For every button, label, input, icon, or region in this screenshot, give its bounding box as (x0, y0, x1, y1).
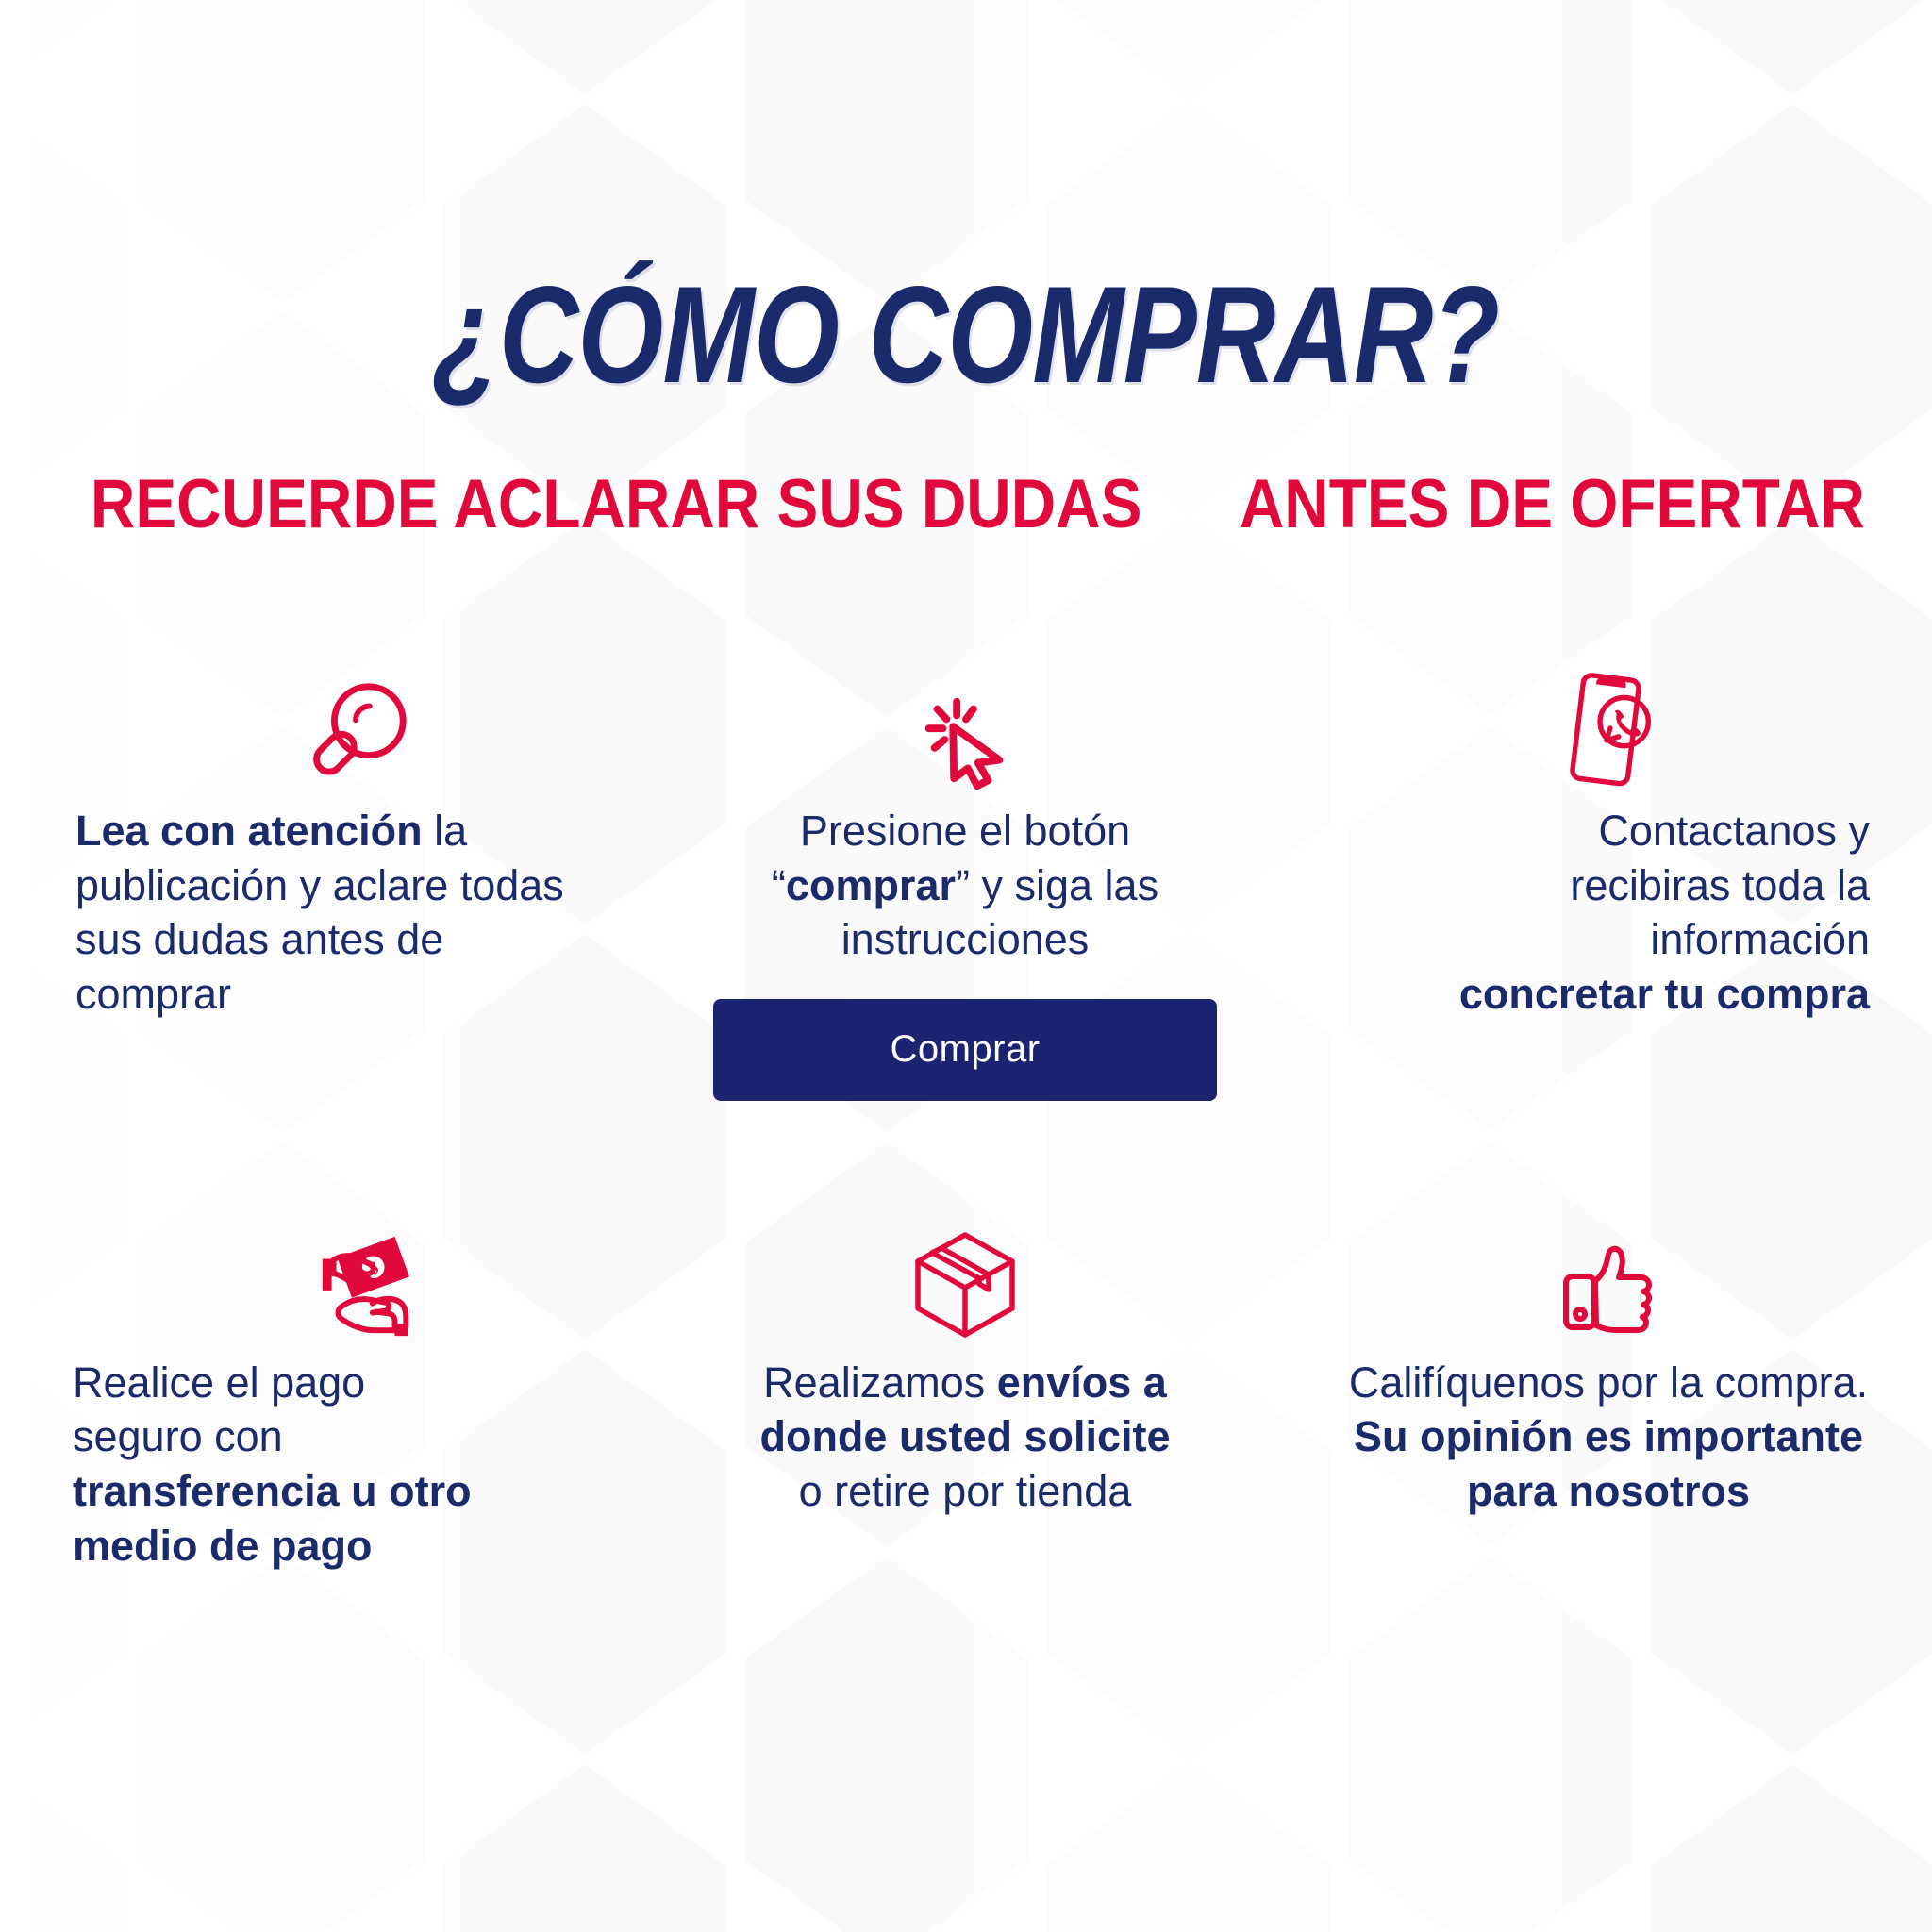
steps-row-bottom: $ (0, 1203, 1932, 1573)
step-text-contact-us: Contactanos yrecibiras toda lainformació… (1341, 804, 1870, 1021)
subtitle-line-2: ANTES DE OFERTAR (1240, 467, 1865, 542)
page-title: ¿CÓMO COMPRAR? (0, 266, 1932, 404)
package-box-icon (906, 1224, 1024, 1342)
step-text-make-payment: Realice el pagoseguro contransferencia u… (73, 1356, 601, 1573)
subtitle: RECUERDE ACLARAR SUS DUDAS ANTES DE OFER… (0, 467, 1932, 542)
thumbs-up-icon (1553, 1231, 1664, 1342)
step-contact-us: Contactanos yrecibiras toda lainformació… (1287, 651, 1930, 1101)
step-rate-us: Califíquenos por la compra. Su opinión e… (1287, 1203, 1930, 1573)
money-hands-icon: $ (304, 1231, 426, 1342)
step-text-shipping: Realizamos envíos adonde usted soliciteo… (759, 1356, 1170, 1519)
subtitle-line-1: RECUERDE ACLARAR SUS DUDAS (91, 467, 1142, 542)
step-read-publication: Lea con atención la publicación y aclare… (0, 651, 643, 1101)
main-title-text: ¿CÓMO COMPRAR? (433, 266, 1500, 404)
steps-grid: Lea con atención la publicación y aclare… (0, 651, 1932, 1573)
click-cursor-icon (914, 689, 1016, 791)
step-make-payment: $ (0, 1203, 643, 1573)
step-press-buy-button: Presione el botón“comprar” y siga lasins… (643, 651, 1287, 1101)
step-text-read-publication: Lea con atención la publicación y aclare… (75, 804, 604, 1021)
buy-button[interactable]: Comprar (713, 999, 1217, 1101)
step-text-press-buy-button: Presione el botón“comprar” y siga lasins… (772, 804, 1158, 967)
step-shipping: Realizamos envíos adonde usted soliciteo… (643, 1203, 1287, 1573)
step-text-rate-us: Califíquenos por la compra. Su opinión e… (1344, 1356, 1873, 1519)
magnifier-icon (303, 679, 414, 791)
steps-row-top: Lea con atención la publicación y aclare… (0, 651, 1932, 1101)
whatsapp-phone-icon (1549, 668, 1662, 791)
